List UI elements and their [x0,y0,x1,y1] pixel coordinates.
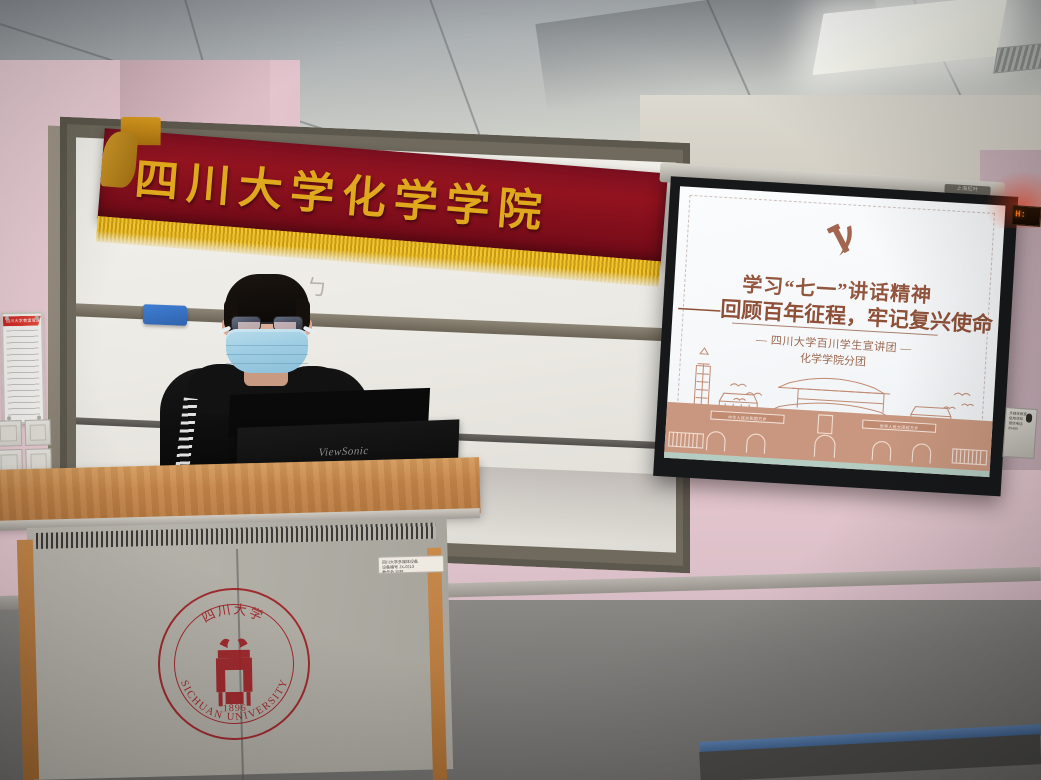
podium-equipment-label: 四川大学多媒体设备 设备编号 JX-0213 教务处 监制 [378,555,444,574]
hammer-and-sickle-icon [819,221,861,265]
wall-plate-dot [1026,413,1033,422]
ceiling-air-vent [993,40,1041,73]
monitor-brand-label: ViewSonic [318,445,368,459]
emblem-bronze-vessel-glyph [216,638,253,706]
glasses-bridge [261,322,273,324]
notice-screw [5,316,9,320]
led-sign-text: H: [1015,209,1026,220]
notice-screw [35,316,39,320]
wall-plate-line-4: 85405 [1008,426,1032,433]
notice-text-lines [6,330,40,419]
sichuan-university-emblem: 四川大学 SICHUAN UNIVERSITY 1896 [157,587,312,742]
surgical-mask [226,329,308,373]
lecture-hall-photo: ㄇㄅ 四川大学化学学院 上海红叶 学习“七一”讲话精神 ——回顾百年征程，牢记复… [0,0,1041,780]
ceiling-light-panel [812,0,1008,75]
presentation-slide: 学习“七一”讲话精神 ——回顾百年征程，牢记复兴使命 — 四川大学百川学生宣讲团… [664,186,1006,477]
tiananmen-illustration: 中华人民共和国万岁 世界人民大团结万岁 [664,338,997,477]
led-indicator-sign: H: [1011,205,1041,227]
emblem-chinese-name: 四川大学 [199,601,267,626]
wall-notice-board: 四川大学教室管理规定 [1,312,45,425]
svg-text:四川大学: 四川大学 [199,601,267,626]
panel-box [24,419,51,446]
panel-box [0,420,22,447]
wall-information-plate: 多媒体教室 使用须知 报修电话 85405 [1002,407,1037,459]
banner-corner-curl [100,130,138,189]
